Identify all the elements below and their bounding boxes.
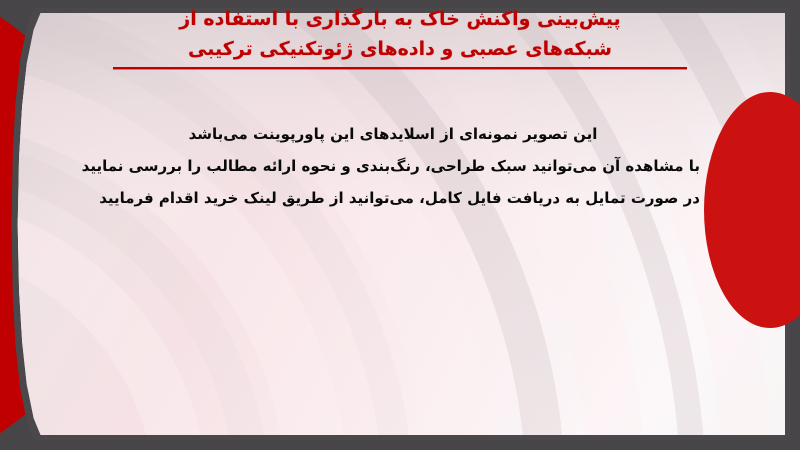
body-line-3: در صورت تمایل به دریافت فایل کامل، می‌تو… [110, 182, 700, 214]
title-line-2: شبکه‌های عصبی و داده‌های ژئوتکنیکی ترکیب… [0, 34, 800, 64]
slide-title: پیش‌بینی واکنش خاک به بارگذاری با استفاد… [0, 4, 800, 70]
presentation-slide: پیش‌بینی واکنش خاک به بارگذاری با استفاد… [0, 0, 800, 450]
body-line-2: با مشاهده آن می‌توانید سبک طراحی، رنگ‌بن… [110, 150, 700, 182]
body-line-1: این تصویر نمونه‌ای از اسلایدهای این پاور… [110, 118, 676, 150]
content-panel [16, 13, 785, 435]
slide-body-text: این تصویر نمونه‌ای از اسلایدهای این پاور… [110, 118, 700, 214]
title-line-1: پیش‌بینی واکنش خاک به بارگذاری با استفاد… [0, 4, 800, 34]
title-divider-rule [113, 67, 687, 70]
